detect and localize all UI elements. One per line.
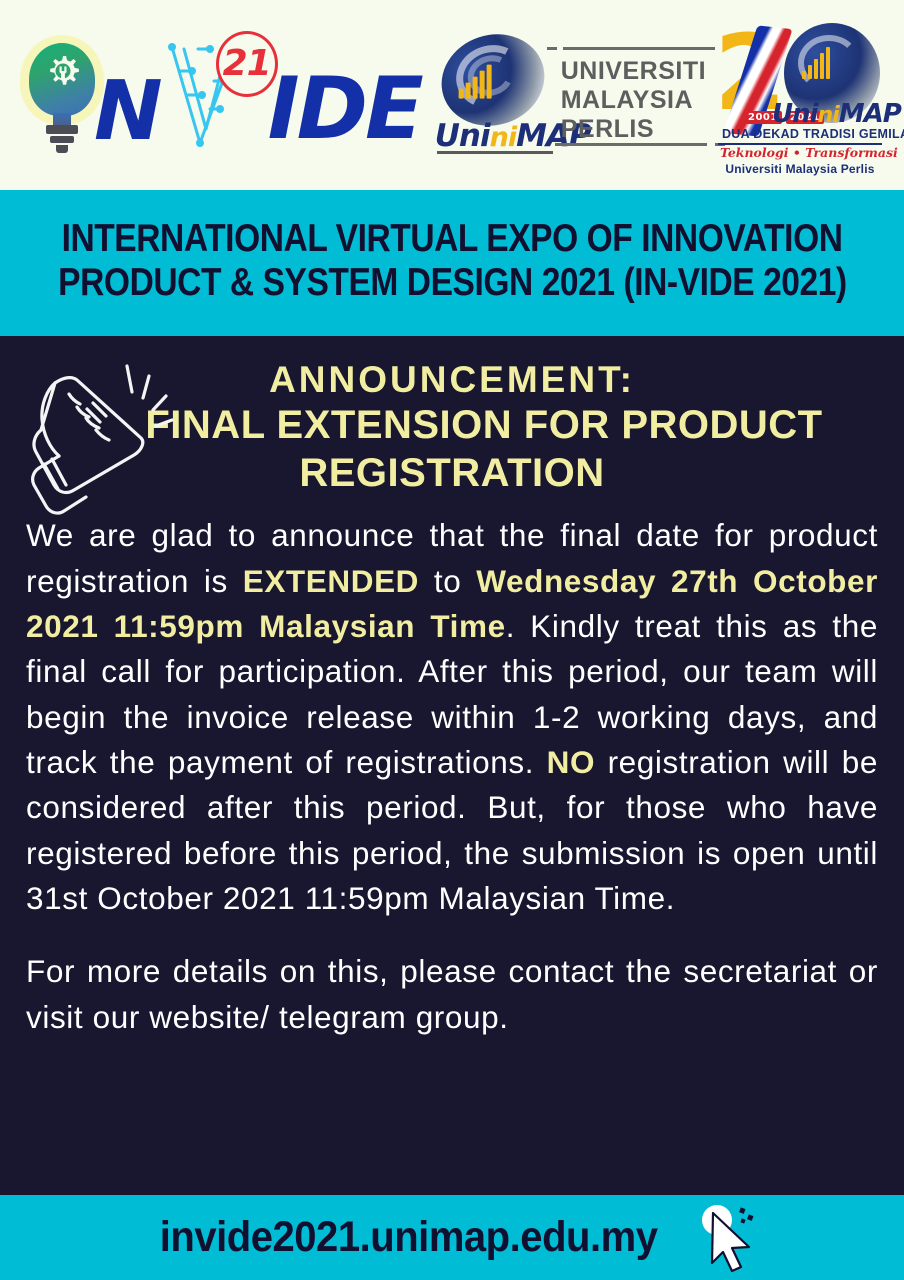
announcement-heading-line-1: ANNOUNCEMENT:	[26, 358, 878, 402]
header-logo-strip: N	[0, 0, 904, 190]
click-cursor-icon	[691, 1201, 763, 1275]
lightbulb-gear-icon	[16, 29, 108, 161]
invide-year-badge-label: 21	[223, 46, 271, 82]
anniversary-wordmark-ni: ni	[818, 103, 839, 128]
bulb-base-ring-2	[50, 136, 74, 143]
invide-logo: N	[16, 25, 421, 165]
unimap-name-block: UNIVERSITI MALAYSIA PERLIS	[561, 33, 706, 158]
anniversary-subtitle: Universiti Malaysia Perlis	[720, 162, 880, 176]
unimap-rule-bottom	[555, 143, 707, 146]
para1-highlight-extended: EXTENDED	[243, 563, 419, 599]
website-url[interactable]: invide2021.unimap.edu.my	[160, 1213, 658, 1262]
anniversary-script-tagline: Teknologi • Transformasi • Komuniti	[720, 145, 880, 160]
anniversary-tagline: DUA DEKAD TRADISI GEMILANG	[722, 127, 880, 141]
para1-text-2: to	[419, 563, 476, 599]
poster-root: N	[0, 0, 904, 1280]
gear-wrench-icon	[42, 53, 84, 95]
anniversary-growth-bars	[802, 47, 830, 79]
announcement-heading-line-3: REGISTRATION	[26, 450, 878, 498]
unimap-rule-top	[563, 47, 715, 50]
announcement-paragraph-1: We are glad to announce that the final d…	[26, 513, 878, 921]
unimap-underline	[437, 151, 553, 154]
unimap-name-line-3: PERLIS	[561, 115, 706, 144]
bulb-base-tip	[56, 145, 68, 153]
event-title-bar: INTERNATIONAL VIRTUAL EXPO OF INNOVATION…	[0, 190, 904, 336]
invide-year-badge: 21	[216, 31, 278, 97]
anniversary-unimap-wordmark: UniniMAP	[772, 101, 901, 127]
bulb-base-ring-1	[46, 125, 78, 134]
anniversary-wordmark-uni: Uni	[772, 99, 818, 129]
invide-letters-ide: IDE	[268, 66, 421, 152]
anniversary-wordmark-map: MAP	[839, 99, 901, 129]
announcement-heading: ANNOUNCEMENT: FINAL EXTENSION FOR PRODUC…	[26, 346, 878, 497]
event-title-line-1: INTERNATIONAL VIRTUAL EXPO OF INNOVATION	[62, 217, 843, 261]
event-title-line-2: PRODUCT & SYSTEM DESIGN 2021 (IN-VIDE 20…	[58, 261, 847, 305]
unimap-20th-anniversary-logo: 2 2001 2021 UniniMAP DUA DEKAD TRADISI G…	[710, 15, 886, 175]
invide-letter-v-circuit: 21	[158, 25, 254, 165]
unimap-wordmark-ni: ni	[490, 122, 516, 153]
unimap-globe-mark: UniniMAP	[435, 33, 555, 158]
unimap-growth-bars	[458, 64, 491, 98]
unimap-logo: UniniMAP UNIVERSITI MALAYSIA PERLIS	[435, 29, 706, 161]
unimap-name-line-1: UNIVERSITI	[561, 57, 706, 86]
unimap-name-line-2: MALAYSIA	[561, 86, 706, 115]
para1-highlight-no: NO	[547, 744, 595, 780]
unimap-wordmark-uni: Uni	[435, 118, 490, 154]
footer-bar: invide2021.unimap.edu.my	[0, 1195, 904, 1280]
announcement-paragraph-2: For more details on this, please contact…	[26, 949, 878, 1040]
announcement-body: ANNOUNCEMENT: FINAL EXTENSION FOR PRODUC…	[0, 336, 904, 1195]
announcement-heading-line-2: FINAL EXTENSION FOR PRODUCT	[26, 402, 878, 450]
